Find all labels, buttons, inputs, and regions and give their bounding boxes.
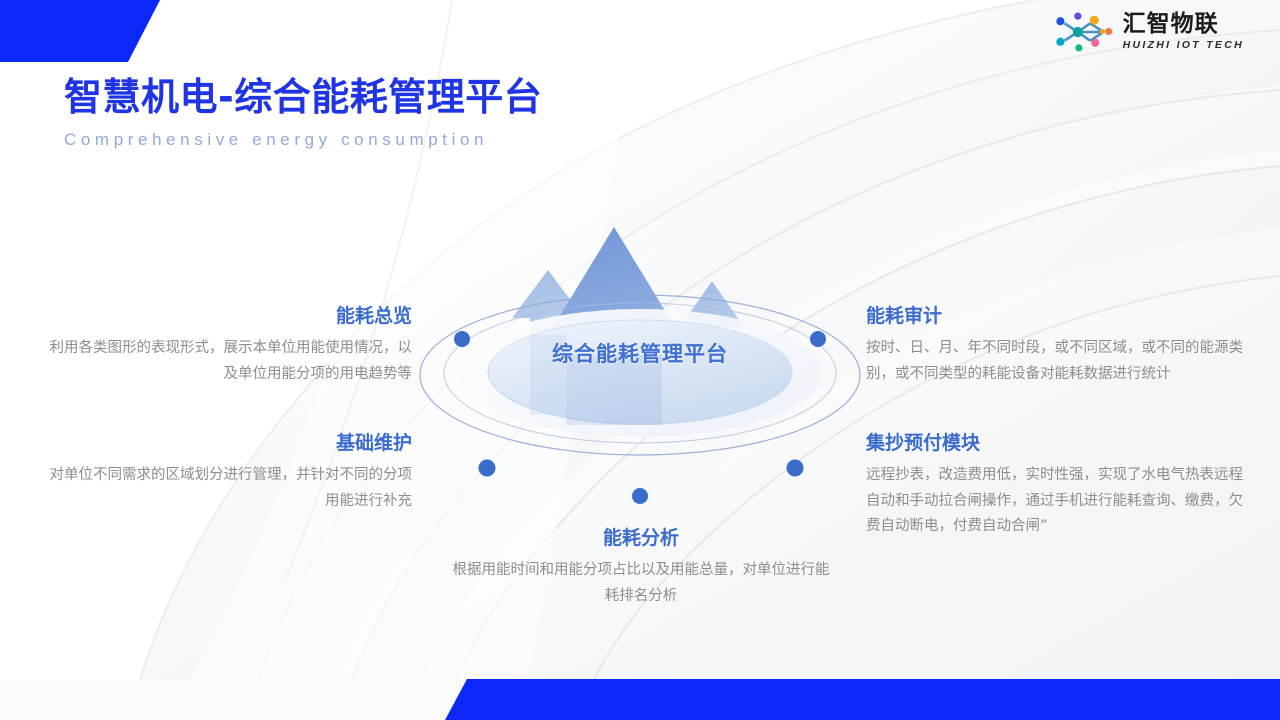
feature-block-overview: 能耗总览 利用各类图形的表现形式，展示本单位用能使用情况，以及单位用能分项的用电… [44, 305, 412, 387]
page-title: 智慧机电-综合能耗管理平台 [64, 66, 542, 121]
feature-heading-overview: 能耗总览 [44, 305, 412, 329]
feature-block-analysis: 能耗分析 根据用能时间和用能分项占比以及用能总量，对单位进行能耗排名分析 [446, 527, 836, 609]
brand-logo[interactable]: 汇智物联 HUIZHI IOT TECH [1053, 12, 1244, 52]
feature-block-audit: 能耗审计 按时、日、月、年不同时段，或不同区域，或不同的能源类别，或不同类型的耗… [866, 305, 1250, 387]
page-subtitle: Comprehensive energy consumption [64, 130, 542, 150]
feature-heading-prepay: 集抄预付模块 [866, 432, 1250, 456]
page-title-block: 智慧机电-综合能耗管理平台 Comprehensive energy consu… [64, 66, 542, 150]
feature-heading-audit: 能耗审计 [866, 305, 1250, 329]
feature-block-prepay: 集抄预付模块 远程抄表，改造费用低，实时性强，实现了水电气热表远程自动和手动拉合… [866, 432, 1250, 540]
orbit-node [632, 488, 648, 504]
orbit-node [787, 460, 804, 477]
bottom-left-strip [0, 680, 470, 720]
slide-canvas: 汇智物联 HUIZHI IOT TECH 智慧机电-综合能耗管理平台 Compr… [0, 0, 1280, 720]
feature-body-maintenance: 对单位不同需求的区域划分进行管理，并针对不同的分项用能进行补充 [44, 463, 412, 515]
feature-heading-maintenance: 基础维护 [44, 432, 412, 456]
feature-body-audit: 按时、日、月、年不同时段，或不同区域，或不同的能源类别，或不同类型的耗能设备对能… [866, 336, 1250, 388]
feature-body-analysis: 根据用能时间和用能分项占比以及用能总量，对单位进行能耗排名分析 [446, 558, 836, 610]
feature-body-prepay: 远程抄表，改造费用低，实时性强，实现了水电气热表远程自动和手动拉合闸操作，通过手… [866, 463, 1250, 540]
orbit-node [479, 460, 496, 477]
logo-name-en: HUIZHI IOT TECH [1123, 40, 1244, 51]
core-platform-label: 综合能耗管理平台 [380, 338, 900, 368]
core-platform-graphic: 综合能耗管理平台 [380, 215, 900, 515]
feature-body-overview: 利用各类图形的表现形式，展示本单位用能使用情况，以及单位用能分项的用电趋势等 [44, 336, 412, 388]
logo-name-cn: 汇智物联 [1123, 13, 1244, 36]
molecule-network-icon [1053, 12, 1115, 52]
feature-heading-analysis: 能耗分析 [446, 527, 836, 551]
feature-block-maintenance: 基础维护 对单位不同需求的区域划分进行管理，并针对不同的分项用能进行补充 [44, 432, 412, 514]
bottom-accent-bar [445, 679, 1280, 720]
